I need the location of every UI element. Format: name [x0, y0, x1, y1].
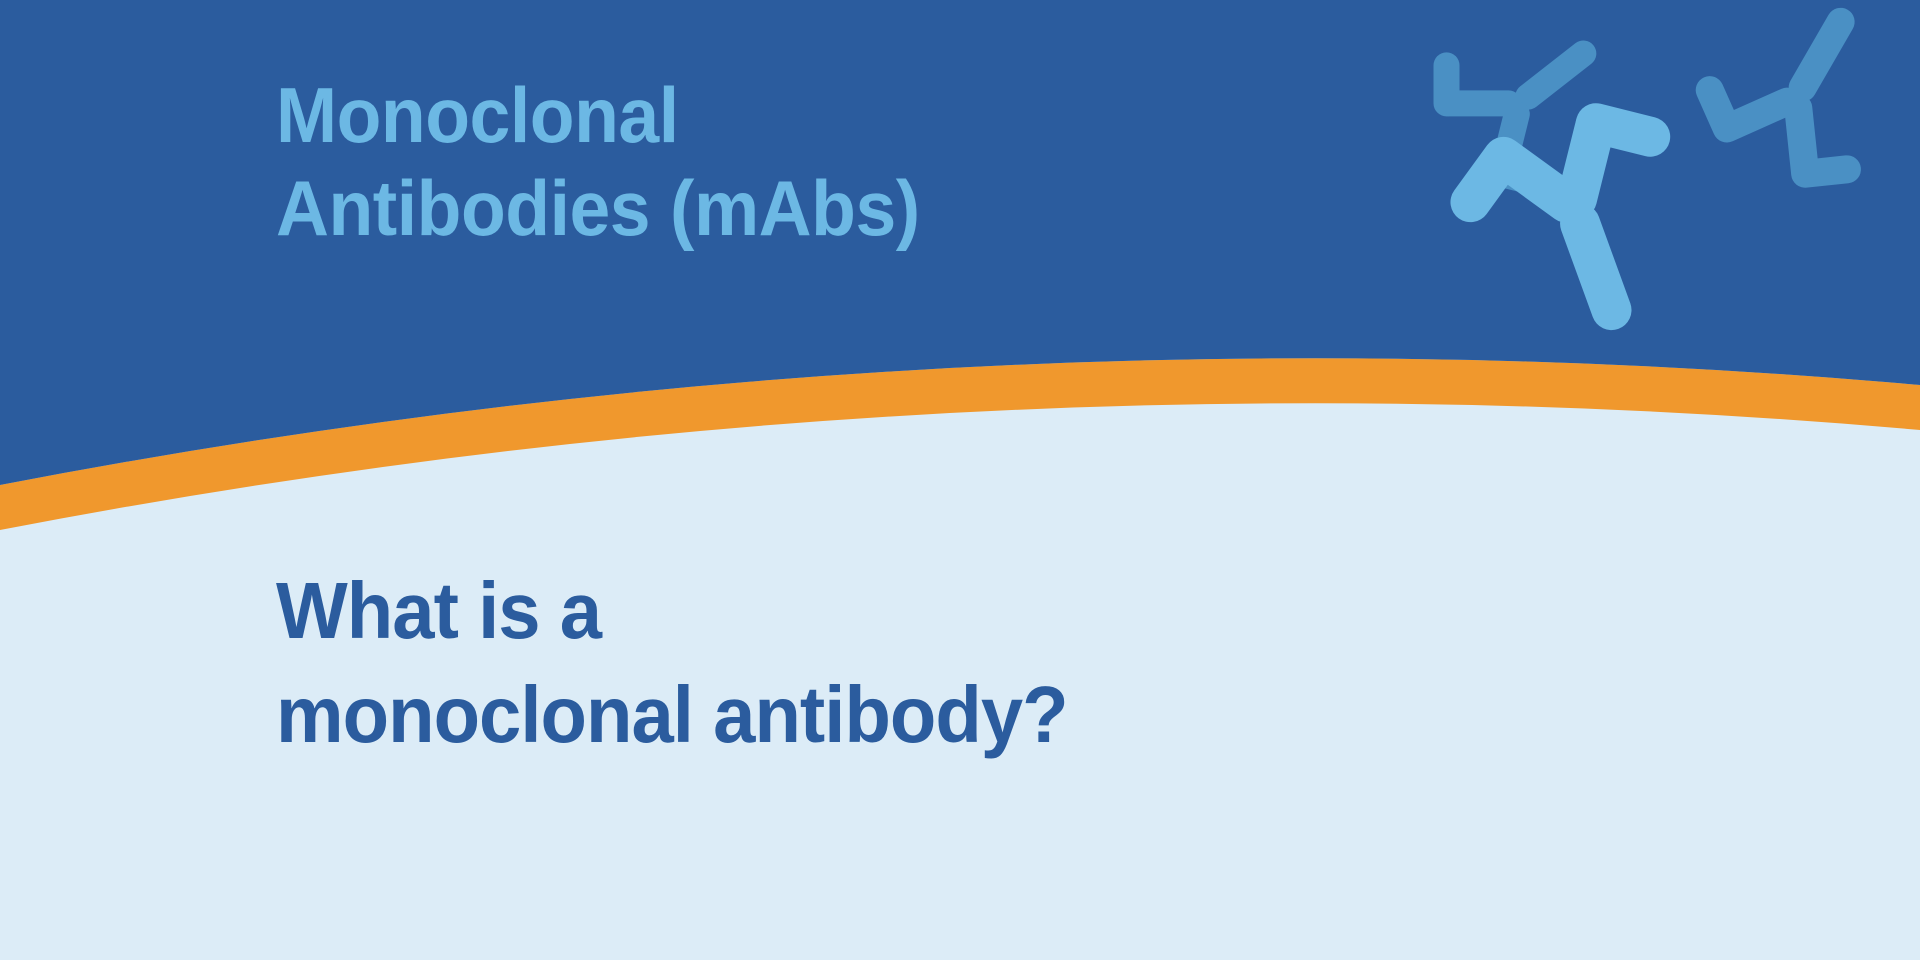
page-title-line-2: Antibodies (mAbs): [276, 171, 1216, 246]
antibody-icon-medium-right: [1671, 0, 1920, 217]
section-heading-block: What is a monoclonal antibody?: [276, 572, 1576, 755]
section-heading-line-1: What is a: [276, 572, 1511, 650]
infographic-banner: Monoclonal Antibodies (mAbs) What is a m…: [0, 0, 1920, 960]
antibody-y-shape-icon: [1430, 0, 1920, 360]
page-title-line-1: Monoclonal: [276, 78, 1216, 153]
header-title-block: Monoclonal Antibodies (mAbs): [276, 78, 1276, 246]
section-heading-line-2: monoclonal antibody?: [276, 676, 1511, 754]
antibody-decoration-cluster: [1430, 0, 1920, 360]
